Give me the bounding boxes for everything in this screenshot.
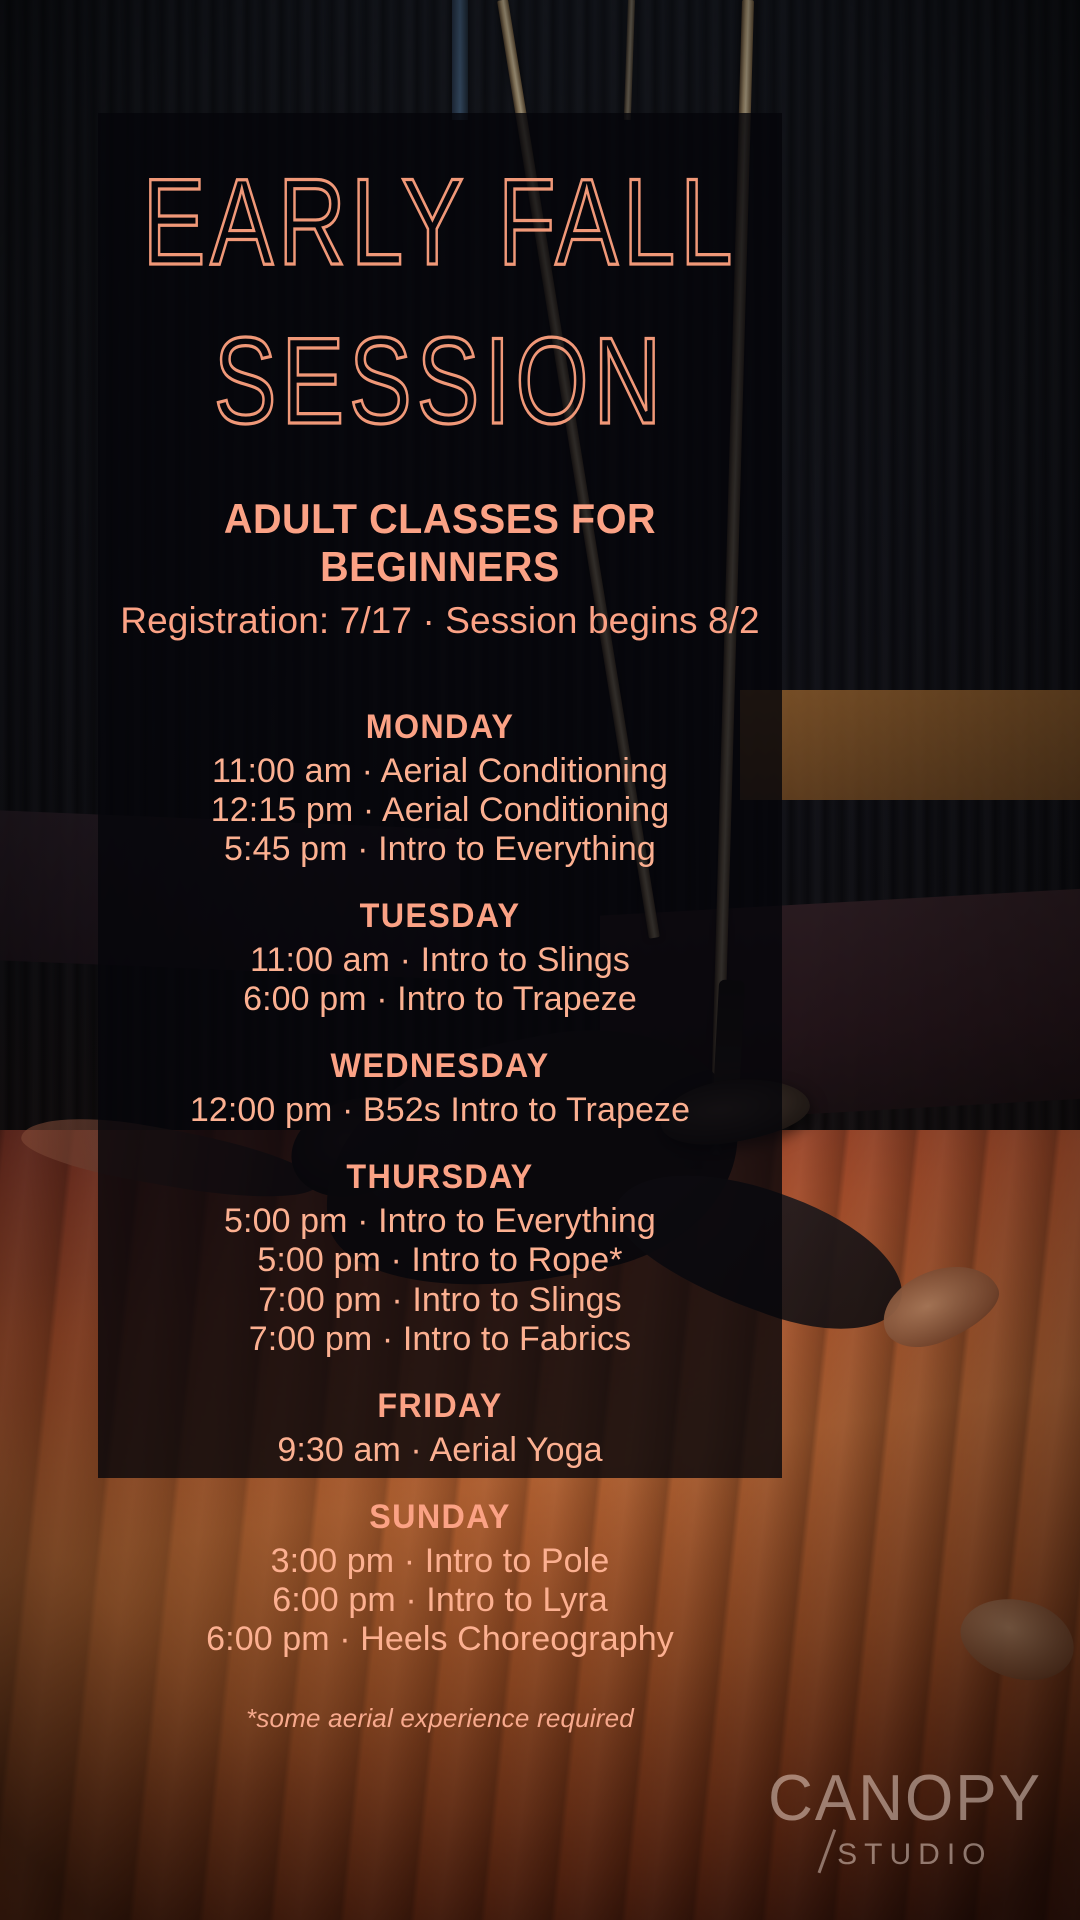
class-row: 5:00 pm · Intro to Rope*	[98, 1241, 782, 1280]
poster-root: EARLY FALL SESSION ADULT CLASSES FOR BEG…	[0, 0, 1080, 1920]
poster-title-line-2: SESSION	[105, 244, 775, 440]
class-row: 6:00 pm · Heels Choreography	[98, 1620, 782, 1659]
class-schedule: MONDAY11:00 am · Aerial Conditioning12:1…	[98, 686, 782, 1658]
day-block: THURSDAY5:00 pm · Intro to Everything5:0…	[98, 1136, 782, 1358]
day-heading-tuesday: TUESDAY	[115, 875, 765, 941]
poster-subtitle: ADULT CLASSES FOR BEGINNERS	[119, 495, 762, 591]
class-row: 3:00 pm · Intro to Pole	[98, 1542, 782, 1581]
day-heading-wednesday: WEDNESDAY	[115, 1025, 765, 1091]
footnote: *some aerial experience required	[98, 1665, 782, 1734]
class-row: 7:00 pm · Intro to Slings	[98, 1281, 782, 1320]
day-block: WEDNESDAY12:00 pm · B52s Intro to Trapez…	[98, 1025, 782, 1130]
day-block: MONDAY11:00 am · Aerial Conditioning12:1…	[98, 686, 782, 869]
class-row: 11:00 am · Intro to Slings	[98, 941, 782, 980]
class-row: 12:00 pm · B52s Intro to Trapeze	[98, 1091, 782, 1130]
class-row: 5:45 pm · Intro to Everything	[98, 830, 782, 869]
day-heading-monday: MONDAY	[115, 686, 765, 752]
day-heading-thursday: THURSDAY	[115, 1136, 765, 1202]
day-block: FRIDAY9:30 am · Aerial Yoga	[98, 1365, 782, 1470]
class-row: 11:00 am · Aerial Conditioning	[98, 752, 782, 791]
class-row: 7:00 pm · Intro to Fabrics	[98, 1320, 782, 1359]
day-block: SUNDAY3:00 pm · Intro to Pole6:00 pm · I…	[98, 1476, 782, 1659]
day-heading-sunday: SUNDAY	[115, 1476, 765, 1542]
class-row: 9:30 am · Aerial Yoga	[98, 1431, 782, 1470]
class-row: 6:00 pm · Intro to Trapeze	[98, 980, 782, 1019]
day-block: TUESDAY11:00 am · Intro to Slings6:00 pm…	[98, 875, 782, 1019]
class-row: 5:00 pm · Intro to Everything	[98, 1202, 782, 1241]
class-row: 12:15 pm · Aerial Conditioning	[98, 791, 782, 830]
day-heading-friday: FRIDAY	[115, 1365, 765, 1431]
registration-line: Registration: 7/17 · Session begins 8/2	[98, 591, 782, 642]
poster-content: EARLY FALL SESSION ADULT CLASSES FOR BEG…	[98, 113, 782, 1478]
class-row: 6:00 pm · Intro to Lyra	[98, 1581, 782, 1620]
